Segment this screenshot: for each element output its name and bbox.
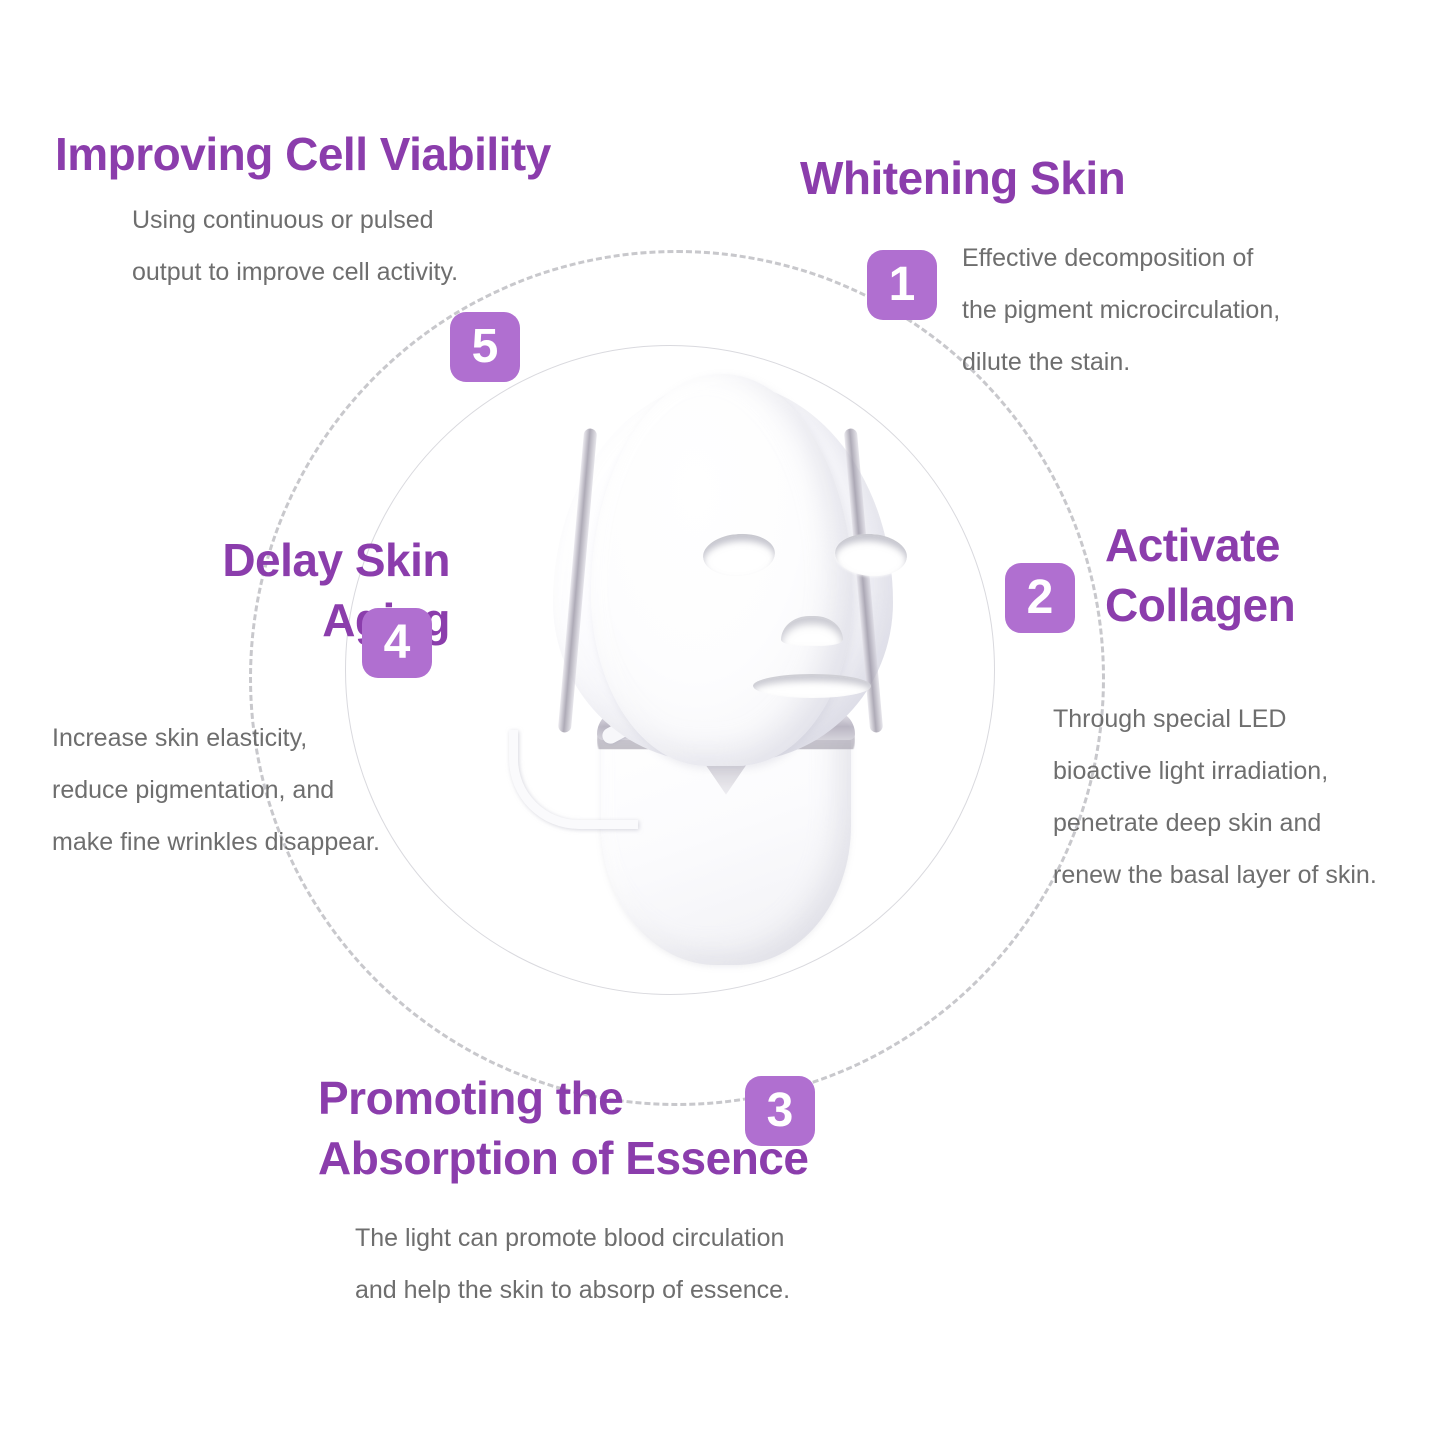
feature-5-description: Using continuous or pulsed output to imp… [132, 194, 458, 298]
feature-4-description-wrap: Increase skin elasticity, reduce pigment… [52, 712, 380, 868]
mask-eye-opening-right [834, 532, 909, 579]
mask-eye-opening-left [702, 532, 777, 579]
feature-3-title: Promoting the Absorption of Essence [318, 1068, 808, 1188]
mask-mouth-opening [753, 674, 871, 698]
feature-5-description-wrap: Using continuous or pulsed output to imp… [132, 194, 458, 298]
power-cable [509, 730, 638, 829]
feature-3-description-wrap: The light can promote blood circulation … [355, 1212, 790, 1316]
feature-2-title: Activate Collagen [1105, 515, 1295, 635]
feature-4-description: Increase skin elasticity, reduce pigment… [52, 712, 380, 868]
feature-1-description: Effective decomposition of the pigment m… [962, 232, 1280, 388]
feature-3-title-wrap: Promoting the Absorption of Essence [318, 1068, 808, 1188]
feature-1-description-wrap: Effective decomposition of the pigment m… [962, 232, 1280, 388]
feature-5-title: Improving Cell Viability [55, 124, 551, 184]
infographic-canvas: Improving Cell Viability Using continuou… [0, 0, 1445, 1445]
feature-2-description: Through special LED bioactive light irra… [1053, 693, 1377, 901]
product-image-led-facial-mask [505, 370, 940, 990]
feature-1-title-wrap: Whitening Skin [800, 148, 1125, 208]
feature-1-title: Whitening Skin [800, 148, 1125, 208]
feature-2-number-badge: 2 [1005, 563, 1075, 633]
feature-3-number-badge: 3 [745, 1076, 815, 1146]
feature-4-number-badge: 4 [362, 608, 432, 678]
feature-2-title-wrap: Activate Collagen [1105, 515, 1295, 635]
feature-2-description-wrap: Through special LED bioactive light irra… [1053, 693, 1377, 901]
feature-3-description: The light can promote blood circulation … [355, 1212, 790, 1316]
feature-1-number-badge: 1 [867, 250, 937, 320]
feature-5-number-badge: 5 [450, 312, 520, 382]
feature-5-title-wrap: Improving Cell Viability [55, 124, 551, 184]
mask-nose-opening [781, 616, 843, 646]
